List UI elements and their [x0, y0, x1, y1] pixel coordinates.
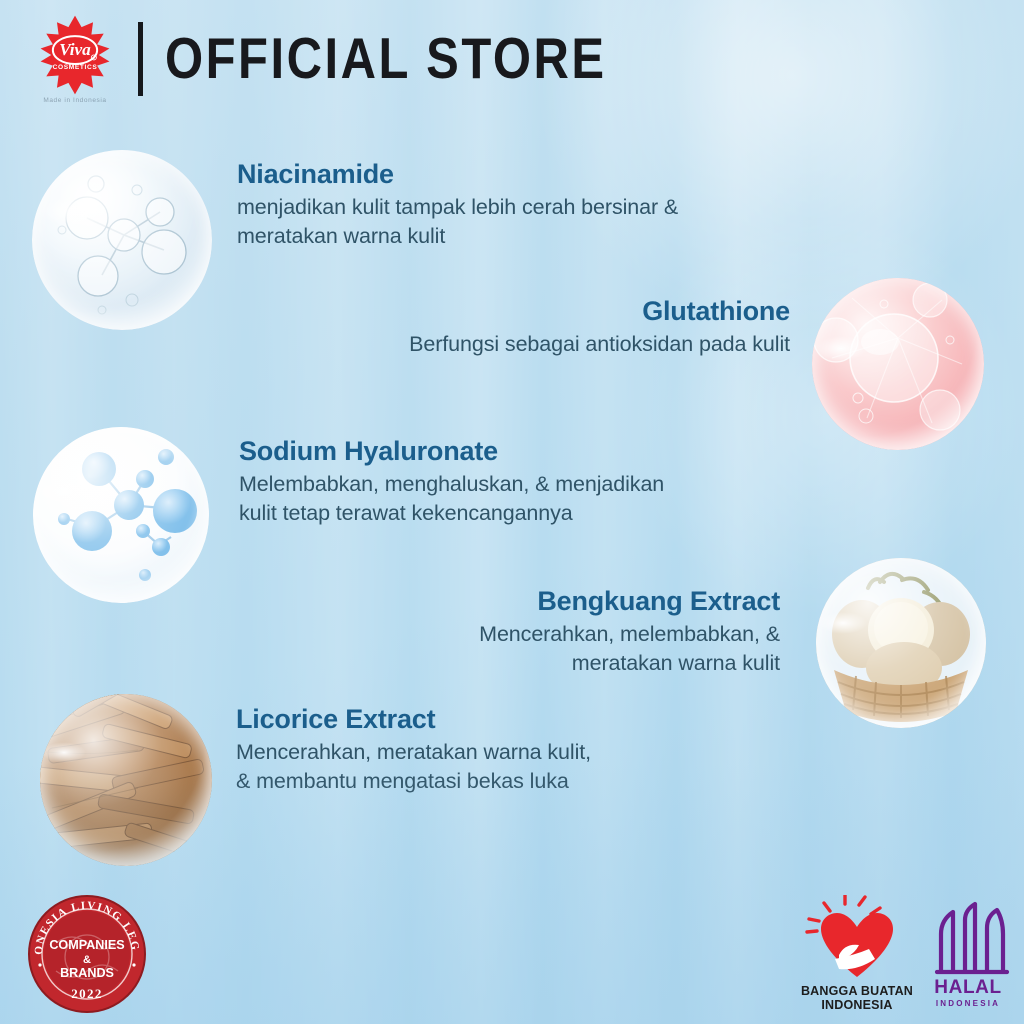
halal-mark-icon [925, 898, 1011, 976]
blue-molecule-illustration-icon [33, 427, 209, 603]
ingredient-block-licorice: Licorice Extract Mencerahkan, meratakan … [236, 703, 796, 796]
made-in-indonesia-text: Made in Indonesia [43, 97, 106, 104]
halal-label: HALAL [925, 978, 1011, 997]
ingredient-block-bengkuang: Bengkuang Extract Mencerahkan, melembabk… [290, 585, 780, 678]
ingredient-title: Licorice Extract [236, 703, 796, 735]
pink-bubbles-illustration-icon [812, 278, 984, 450]
molecule-illustration-icon [32, 150, 212, 330]
indonesia-living-legend-seal: INDONESIA LIVING LEGEND COMPANIES & BRAN… [26, 893, 148, 1015]
halal-sublabel: INDONESIA [925, 999, 1011, 1008]
ingredient-title: Niacinamide [237, 158, 807, 190]
licorice-sticks-illustration-icon [40, 694, 212, 866]
sodium-hyaluronate-image [33, 427, 209, 603]
page-title: OFFICIAL STORE [165, 30, 607, 88]
store-header: Viva R COSMETICS Made in Indonesia OFFIC… [26, 14, 607, 104]
living-legend-seal-icon: INDONESIA LIVING LEGEND COMPANIES & BRAN… [26, 893, 148, 1015]
ingredient-description: Berfungsi sebagai antioksidan pada kulit [270, 330, 790, 359]
svg-text:COSMETICS: COSMETICS [53, 64, 98, 71]
seal-line-3: BRANDS [60, 966, 114, 980]
viva-flower-logo-icon: Viva R COSMETICS [34, 14, 116, 96]
svg-text:Viva: Viva [59, 40, 91, 59]
bengkuang-image [816, 558, 986, 728]
ingredient-block-glutathione: Glutathione Berfungsi sebagai antioksida… [270, 295, 790, 359]
promo-banner: Viva R COSMETICS Made in Indonesia OFFIC… [0, 0, 1024, 1024]
ingredient-description: Mencerahkan, melembabkan, & meratakan wa… [290, 620, 780, 678]
ingredient-description: Mencerahkan, meratakan warna kulit, & me… [236, 738, 796, 796]
bangga-label: BANGGA BUATAN INDONESIA [795, 984, 919, 1012]
ingredient-description: Melembabkan, menghaluskan, & menjadikan … [239, 470, 819, 528]
halal-indonesia-badge: HALAL INDONESIA [925, 898, 1011, 1008]
svg-text:R: R [93, 56, 95, 60]
glutathione-image [812, 278, 984, 450]
jicama-basket-illustration-icon [816, 558, 986, 728]
ingredient-title: Sodium Hyaluronate [239, 435, 819, 467]
viva-logo[interactable]: Viva R COSMETICS Made in Indonesia [26, 14, 124, 104]
bangga-heart-icon [795, 895, 919, 981]
seal-year: 2022 [71, 986, 103, 1001]
ingredient-title: Glutathione [270, 295, 790, 327]
licorice-image [40, 694, 212, 866]
ingredient-description: menjadikan kulit tampak lebih cerah bers… [237, 193, 807, 251]
seal-line-2: & [83, 954, 91, 966]
seal-line-1: COMPANIES [49, 938, 124, 952]
header-divider [138, 22, 143, 96]
ingredient-block-sodium-hyaluronate: Sodium Hyaluronate Melembabkan, menghalu… [239, 435, 819, 528]
bangga-buatan-indonesia-badge: BANGGA BUATAN INDONESIA [795, 895, 919, 1012]
niacinamide-image [32, 150, 212, 330]
ingredient-block-niacinamide: Niacinamide menjadikan kulit tampak lebi… [237, 158, 807, 251]
ingredient-title: Bengkuang Extract [290, 585, 780, 617]
